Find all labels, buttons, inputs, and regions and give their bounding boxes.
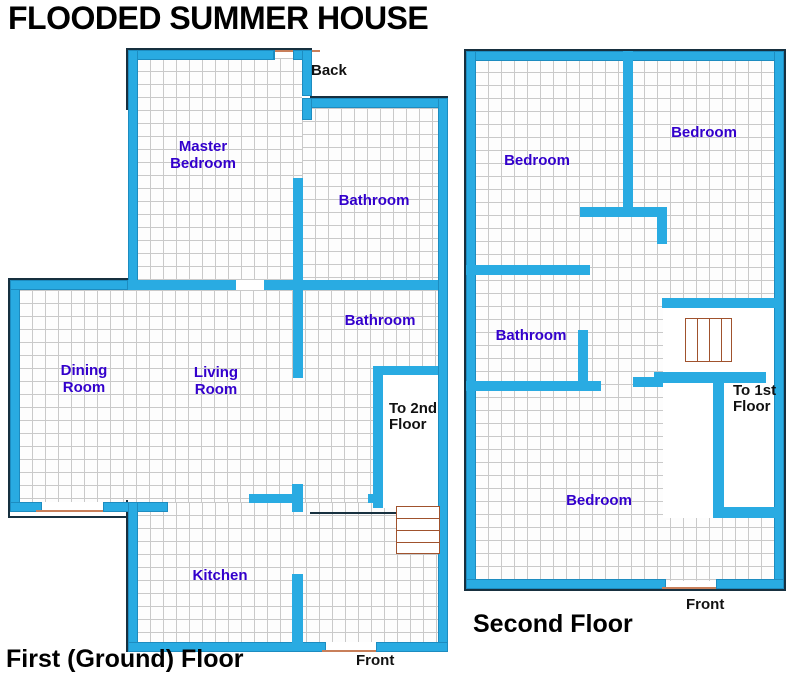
caption-second-floor: Second Floor: [473, 610, 633, 639]
wall-exterior-right: [438, 98, 448, 652]
room-label-line: Bathroom: [337, 312, 423, 329]
wall-interior-master-bottom: [128, 280, 236, 290]
room-label-kitchen: Kitchen: [184, 567, 256, 584]
wall-exterior-left-kitchen: [128, 502, 138, 652]
room-label-bathroom-second: Bathroom: [488, 327, 574, 344]
wall-bathroom-right: [578, 330, 588, 384]
wall-divider-living-kitchen-left: [249, 494, 297, 503]
wall-exterior-top-right-stub: [273, 50, 275, 60]
room-label-living-room: Living Room: [180, 364, 252, 398]
annotation-line: Back: [311, 63, 347, 79]
wall-bathroom-top: [466, 265, 590, 275]
wall-stairwell-second-top: [662, 298, 775, 308]
wall-exterior-top-left: [128, 50, 275, 60]
wall-stairwell-second-lower-h-extra: [633, 377, 663, 387]
wall-bathroom-bottom: [466, 381, 601, 391]
wall-interior-vertical-bathroom: [293, 178, 303, 378]
annotation-line: Front: [356, 653, 394, 669]
wall-divider-living-kitchen-post: [292, 484, 303, 512]
wall-exterior-left-dining: [10, 280, 20, 512]
room-label-line: Dining: [46, 362, 122, 379]
room-label-bedroom-top-left: Bedroom: [497, 152, 577, 169]
annotation-line: To 1st: [733, 383, 776, 399]
wall-stairwell-second-vertical: [713, 372, 724, 517]
wall-stairwell-left: [373, 366, 383, 508]
wall-stairwell-second-bottom: [713, 507, 776, 518]
wall-stub-bedroom-divider-vertical: [657, 207, 667, 244]
door-front-second: [662, 587, 720, 589]
room-label-line: Bedroom: [559, 492, 639, 509]
annotation-back-entrance: Back: [311, 63, 347, 79]
page-title: FLOODED SUMMER HOUSE: [8, 0, 428, 37]
annotation-front-entrance-second: Front: [686, 597, 724, 613]
room-label-line: Bedroom: [163, 155, 243, 172]
floorplan-canvas: FLOODED SUMMER HOUSE: [0, 0, 800, 677]
wall-exterior-top-bathroom-wing: [302, 98, 448, 108]
wall-stub-bedroom-divider-horizontal: [580, 207, 667, 217]
room-label-bedroom-top-right: Bedroom: [664, 124, 744, 141]
wall-exterior-bottom-second-right: [716, 579, 784, 589]
room-label-bathroom-lower: Bathroom: [337, 312, 423, 329]
wall-exterior-left-upper: [128, 50, 138, 290]
annotation-line: Front: [686, 597, 724, 613]
room-label-line: Bathroom: [331, 192, 417, 209]
room-label-dining-room: Dining Room: [46, 362, 122, 396]
annotation-front-entrance-first: Front: [356, 653, 394, 669]
door-dining-bottom: [36, 510, 106, 512]
caption-first-floor: First (Ground) Floor: [6, 645, 243, 674]
wall-exterior-bottom-front-right: [376, 642, 448, 652]
wall-exterior-left-second: [466, 51, 476, 589]
annotation-to-second-floor: To 2nd Floor: [389, 401, 437, 433]
stairs-to-second-floor: [396, 506, 440, 554]
wall-exterior-bottom-second-left: [466, 579, 666, 589]
room-label-line: Living: [180, 364, 252, 381]
wall-divider-top-bedrooms: [623, 51, 633, 217]
annotation-line: To 2nd: [389, 401, 437, 417]
annotation-to-first-floor: To 1st Floor: [733, 383, 776, 415]
room-label-line: Room: [46, 379, 122, 396]
room-label-line: Master: [163, 138, 243, 155]
annotation-line: Floor: [733, 399, 776, 415]
room-label-master-bedroom: Master Bedroom: [163, 138, 243, 172]
stairs-to-first-floor: [685, 318, 732, 362]
wall-stub-notch: [302, 98, 312, 120]
wall-interior-bathroom-split: [264, 280, 438, 290]
room-label-line: Bedroom: [497, 152, 577, 169]
room-label-bathroom-upper: Bathroom: [331, 192, 417, 209]
room-label-line: Kitchen: [184, 567, 256, 584]
room-label-line: Bathroom: [488, 327, 574, 344]
wall-exterior-top-dining: [10, 280, 128, 290]
annotation-line: Floor: [389, 417, 437, 433]
room-label-line: Room: [180, 381, 252, 398]
room-label-line: Bedroom: [664, 124, 744, 141]
stairwell-void-first: [382, 374, 438, 508]
room-label-bedroom-bottom: Bedroom: [559, 492, 639, 509]
slab-kitchen: [137, 502, 438, 642]
wall-kitchen-divider: [292, 574, 303, 646]
